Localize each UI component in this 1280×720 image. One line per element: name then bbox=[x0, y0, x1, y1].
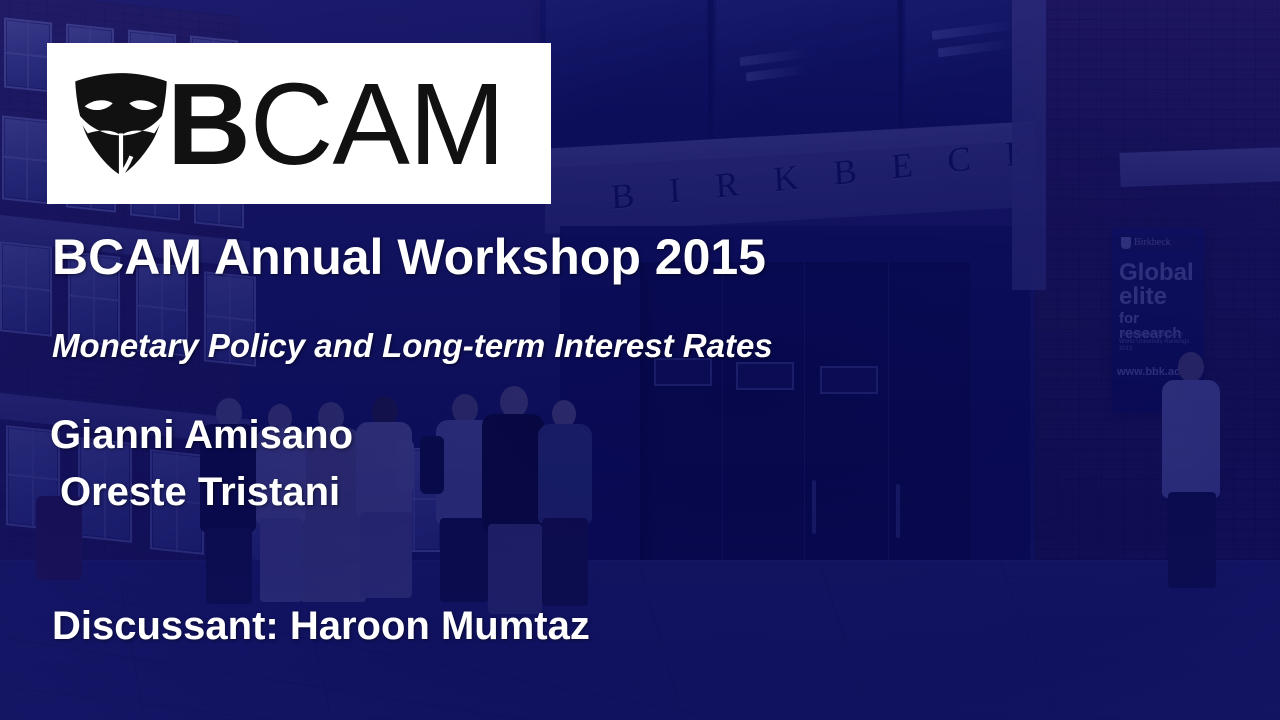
author-name-1: Gianni Amisano bbox=[50, 413, 353, 458]
bcam-logo: BCAM bbox=[47, 43, 551, 204]
author-name-2: Oreste Tristani bbox=[60, 470, 340, 515]
slide-title: BCAM Annual Workshop 2015 bbox=[52, 228, 766, 286]
discussant-line: Discussant: Haroon Mumtaz bbox=[52, 604, 590, 649]
bcam-owl-icon bbox=[69, 71, 173, 177]
presentation-slide: B I R K B E C K Birkbeck Global elite fo… bbox=[0, 0, 1280, 720]
bcam-logo-wordmark: BCAM bbox=[167, 66, 505, 182]
bcam-logo-cam: CAM bbox=[250, 59, 505, 189]
slide-subtitle: Monetary Policy and Long-term Interest R… bbox=[52, 327, 773, 365]
bcam-logo-b: B bbox=[167, 59, 250, 189]
